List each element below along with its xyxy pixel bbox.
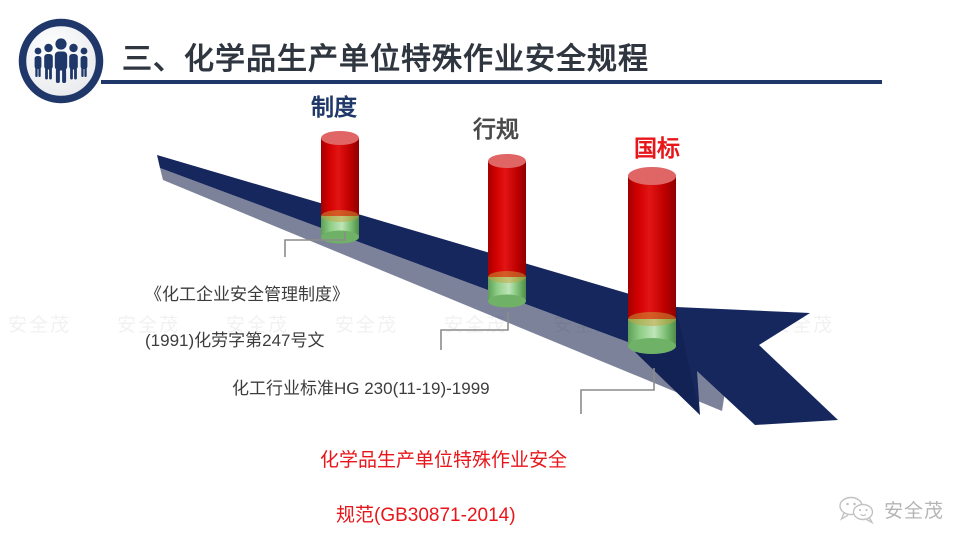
wechat-bubble-icon [837, 494, 877, 524]
annotation-1-line2: (1991)化劳字第247号文 [145, 330, 349, 353]
cylinder-2 [486, 152, 528, 312]
cylinder-label-1: 制度 [311, 96, 357, 119]
title-underline [101, 80, 882, 84]
cylinder-3 [626, 165, 678, 355]
page-title: 三、化学品生产单位特殊作业安全规程 [122, 34, 649, 78]
annotation-3-line1: 化学品生产单位特殊作业安全 [320, 447, 567, 475]
watermark-band-text: 安全茂 [771, 310, 834, 337]
annotation-3: 化学品生产单位特殊作业安全 规范(GB30871-2014) [320, 419, 567, 529]
people-group-circle-icon [17, 17, 105, 105]
watermark-corner-text: 安全茂 [884, 496, 944, 523]
annotation-3-line2: 规范(GB30871-2014) [320, 502, 516, 530]
cylinder-label-2: 行规 [473, 118, 519, 141]
watermark-band-text: 安全茂 [444, 310, 507, 337]
watermark-band: 安全茂 安全茂 安全茂 安全茂 安全茂 安全茂 安全茂 安全茂 [0, 306, 960, 340]
annotation-2: 化工行业标准HG 230(11-19)-1999 [232, 355, 490, 424]
annotation-1-line1: 《化工企业安全管理制度》 [145, 284, 349, 307]
watermark-corner: 安全茂 [837, 494, 944, 524]
watermark-band-text: 安全茂 [8, 310, 71, 337]
cylinder-1 [319, 129, 361, 245]
annotation-2-line1: 化工行业标准HG 230(11-19)-1999 [232, 378, 490, 401]
cylinder-label-3: 国标 [634, 137, 680, 160]
watermark-band-text: 安全茂 [553, 310, 616, 337]
slide-canvas: 安全茂 安全茂 安全茂 安全茂 安全茂 安全茂 安全茂 安全茂 [0, 0, 960, 540]
